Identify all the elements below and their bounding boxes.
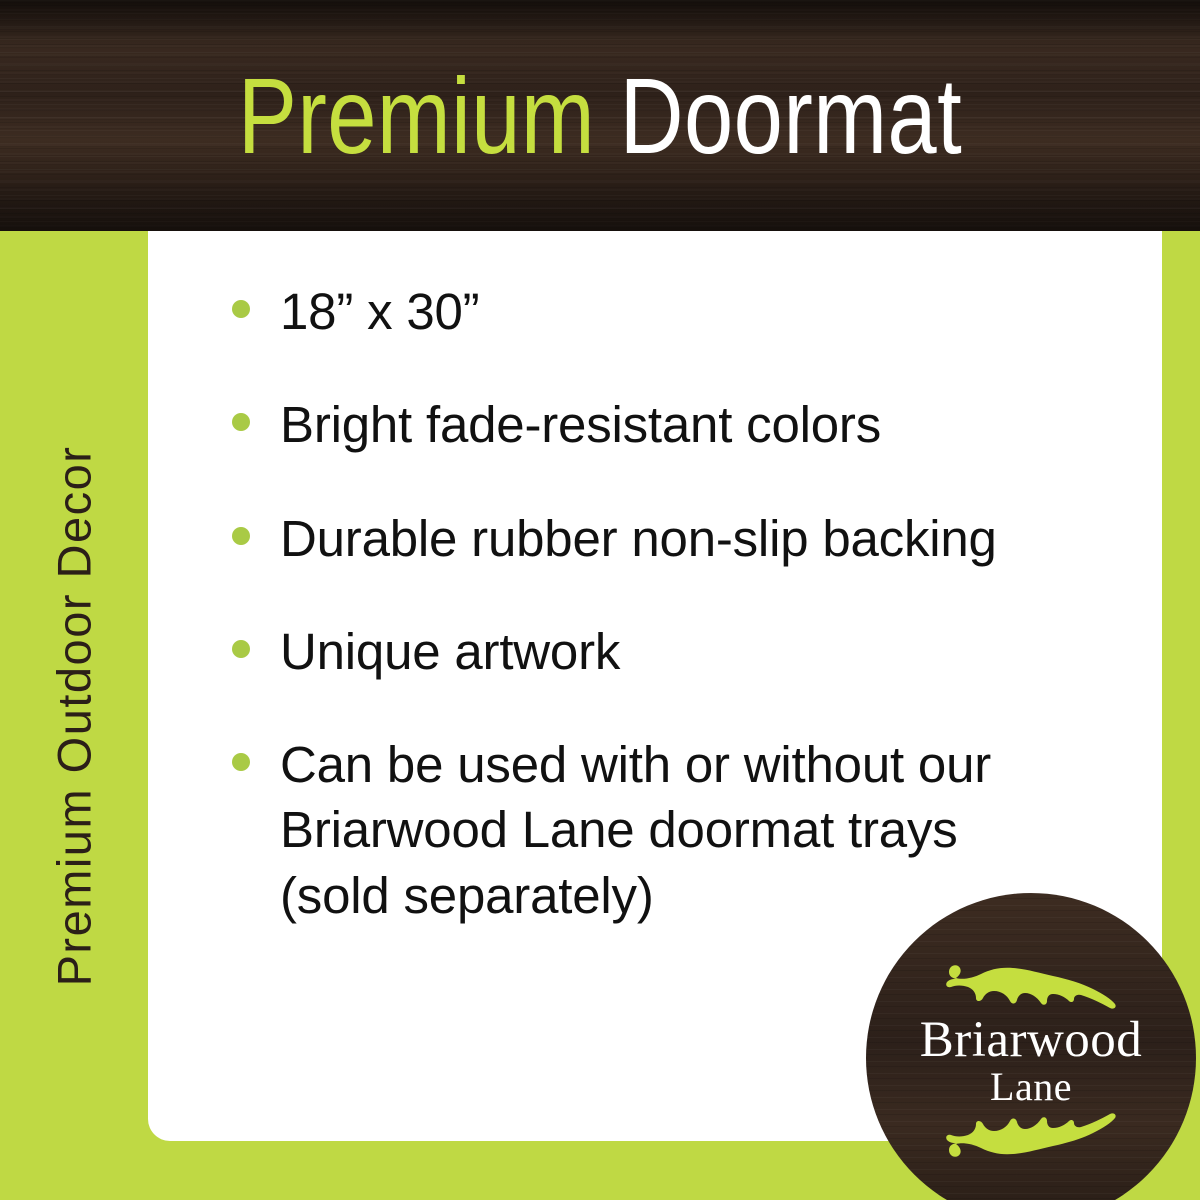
- bullet-dot-icon: [232, 753, 250, 771]
- page-title: Premium Doormat: [108, 0, 1092, 231]
- brand-wordmark: Briarwood Lane: [920, 1014, 1143, 1108]
- sidebar-band: Premium Outdoor Decor: [0, 231, 148, 1200]
- brand-sub-name: Lane: [920, 1066, 1143, 1108]
- feature-text: Unique artwork: [280, 619, 1108, 684]
- oak-leaf-icon: [943, 960, 1119, 1010]
- bullet-dot-icon: [232, 527, 250, 545]
- list-item: Unique artwork: [228, 619, 1108, 684]
- header-band: Premium Doormat: [0, 0, 1200, 231]
- feature-text: Bright fade-resistant colors: [280, 392, 1108, 457]
- list-item: Durable rubber non-slip backing: [228, 506, 1108, 571]
- feature-list: 18” x 30” Bright fade-resistant colors D…: [228, 279, 1108, 928]
- brand-logo-content: Briarwood Lane: [866, 893, 1196, 1200]
- sidebar-vertical-label: Premium Outdoor Decor: [51, 445, 98, 986]
- bullet-dot-icon: [232, 640, 250, 658]
- brand-name: Briarwood: [920, 1014, 1143, 1066]
- page-title-main: Doormat: [620, 62, 962, 170]
- brand-logo-badge: Briarwood Lane: [866, 893, 1196, 1200]
- feature-text: 18” x 30”: [280, 279, 1108, 344]
- list-item: Bright fade-resistant colors: [228, 392, 1108, 457]
- feature-text: Durable rubber non-slip backing: [280, 506, 1108, 571]
- oak-leaf-icon: [943, 1112, 1119, 1162]
- bullet-dot-icon: [232, 413, 250, 431]
- list-item: 18” x 30”: [228, 279, 1108, 344]
- product-infographic: Premium Doormat Premium Outdoor Decor 18…: [0, 0, 1200, 1200]
- bullet-dot-icon: [232, 300, 250, 318]
- page-title-accent: Premium: [238, 62, 595, 170]
